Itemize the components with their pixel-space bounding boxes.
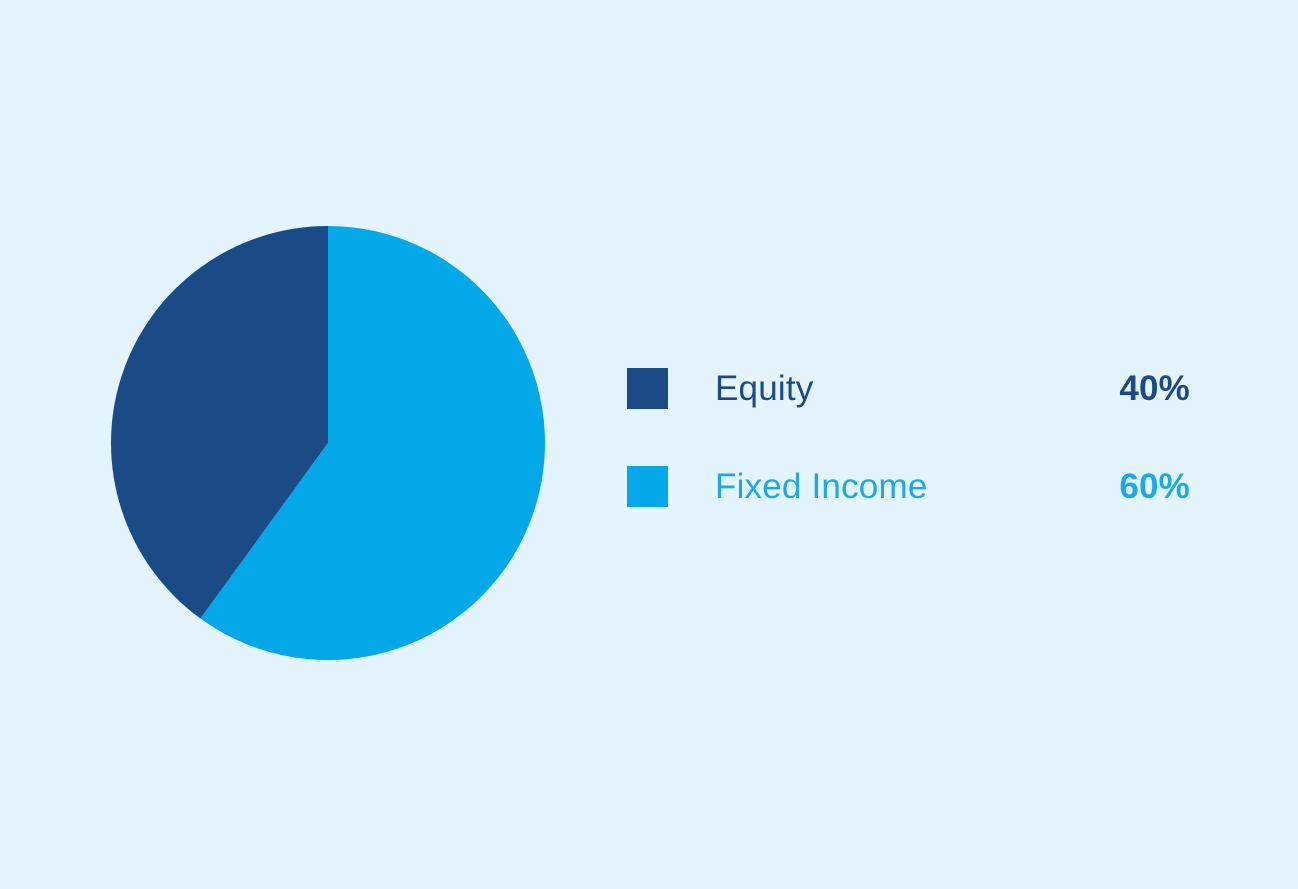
legend-item-equity[interactable]: Equity 40% — [627, 362, 1190, 414]
pie-chart-svg — [111, 226, 545, 660]
legend-value-fixed-income: 60% — [1119, 469, 1190, 504]
pie-slice-group — [111, 226, 545, 660]
legend-item-fixed-income[interactable]: Fixed Income 60% — [627, 460, 1190, 512]
pie-chart — [111, 226, 545, 660]
legend-label-equity: Equity — [715, 371, 813, 406]
legend-swatch-fixed-income — [627, 466, 668, 507]
legend-swatch-equity — [627, 368, 668, 409]
chart-legend: Equity 40% Fixed Income 60% — [627, 362, 1190, 512]
pie-chart-figure: Equity 40% Fixed Income 60% — [0, 0, 1298, 889]
legend-value-equity: 40% — [1119, 371, 1190, 406]
legend-label-fixed-income: Fixed Income — [715, 469, 928, 504]
